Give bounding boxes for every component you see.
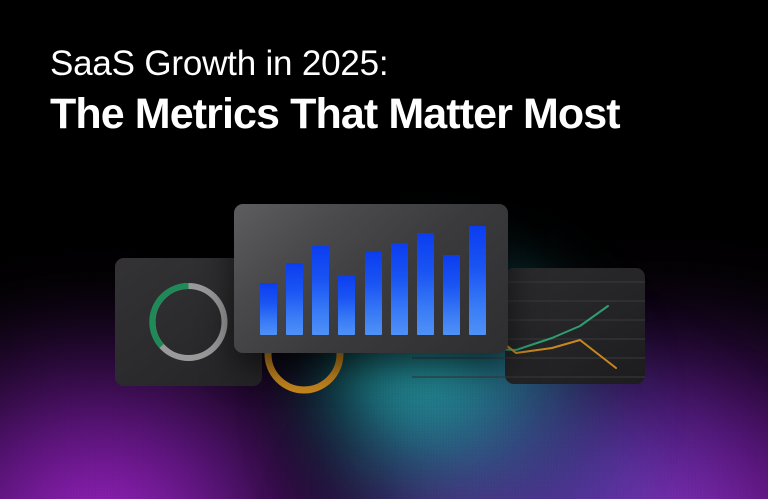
line-series-up-inner — [505, 306, 608, 350]
bar-item — [312, 246, 329, 335]
bar-item — [443, 255, 460, 335]
donut-progress-arc — [152, 286, 188, 346]
line-series-down-inner — [505, 318, 616, 368]
bar-item — [417, 233, 434, 335]
bar-item — [338, 275, 355, 335]
bar-chart-plot — [260, 226, 486, 335]
gridlines-inner — [505, 282, 645, 377]
page-title: SaaS Growth in 2025: The Metrics That Ma… — [50, 44, 620, 139]
growth-bar-chart-card — [234, 204, 508, 353]
bar-item — [365, 252, 382, 335]
bar-item — [260, 283, 277, 335]
headline-subtitle: SaaS Growth in 2025: — [50, 44, 620, 85]
donut-chart — [135, 276, 242, 368]
trend-lines-card — [505, 268, 645, 384]
hero-banner: SaaS Growth in 2025: The Metrics That Ma… — [0, 0, 768, 499]
headline-main: The Metrics That Matter Most — [50, 90, 620, 140]
line-chart-inner — [505, 268, 645, 384]
bar-item — [391, 243, 408, 335]
bar-item — [286, 263, 303, 335]
bar-item — [469, 226, 486, 335]
